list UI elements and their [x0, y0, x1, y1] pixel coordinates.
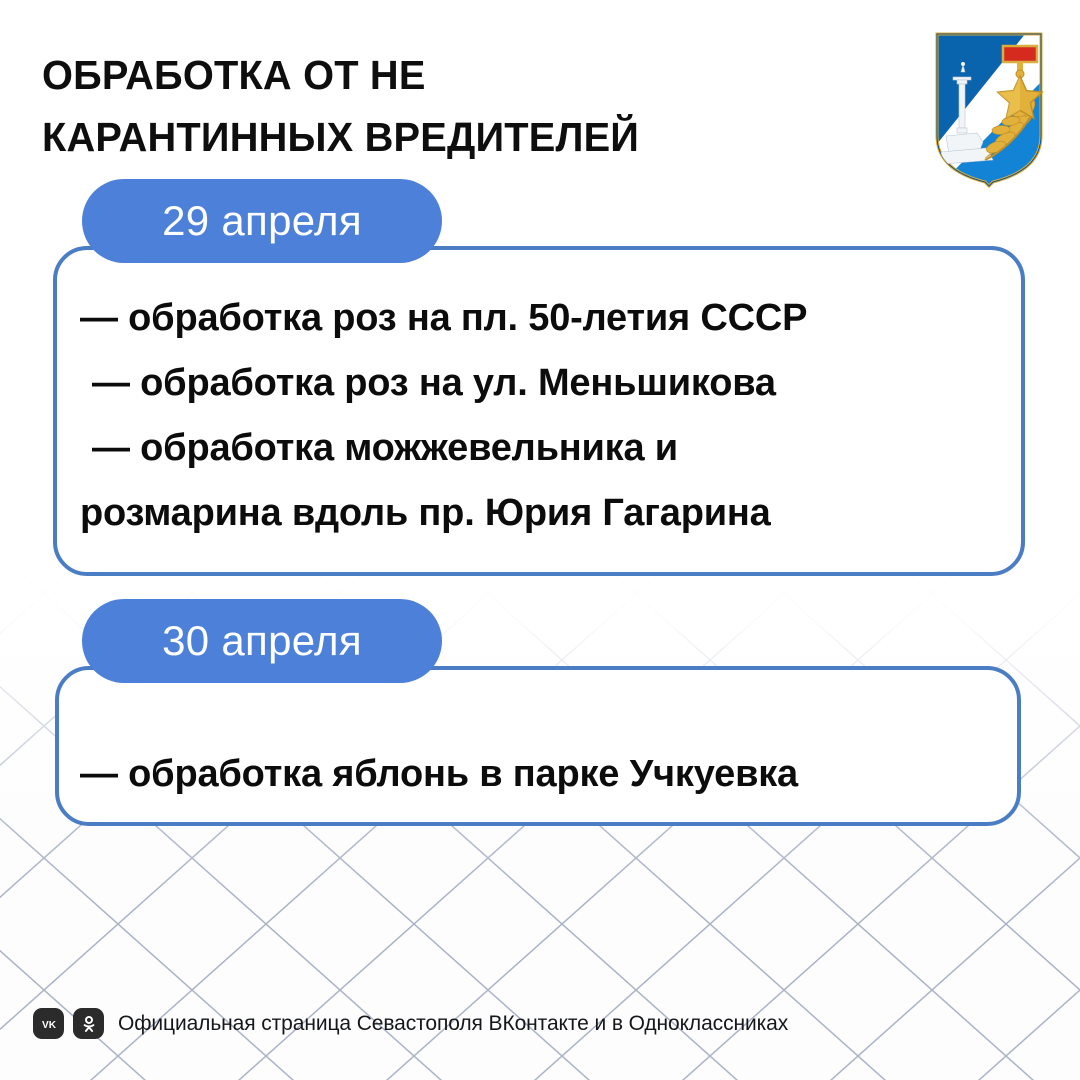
- footer-text: Официальная страница Севастополя ВКонтак…: [118, 1012, 788, 1036]
- card-body-section-2: — обработка яблонь в парке Учкуевка: [80, 742, 1010, 807]
- vk-icon[interactable]: VK: [33, 1008, 64, 1039]
- odnoklassniki-icon[interactable]: [73, 1008, 104, 1039]
- list-item: — обработка можжевельника и: [80, 416, 1010, 481]
- coat-of-arms-icon: [913, 24, 1065, 192]
- svg-text:VK: VK: [41, 1020, 56, 1031]
- card-body-section-1: — обработка роз на пл. 50-летия СССР — о…: [80, 286, 1010, 546]
- page-title: ОБРАБОТКА ОТ НЕ КАРАНТИННЫХ ВРЕДИТЕЛЕЙ: [42, 44, 721, 168]
- list-item: — обработка роз на пл. 50-летия СССР: [80, 286, 1010, 351]
- date-badge-30-april: 30 апреля: [82, 599, 442, 683]
- list-item-continued: розмарина вдоль пр. Юрия Гагарина: [80, 481, 1010, 546]
- title-line-1: ОБРАБОТКА ОТ НЕ: [42, 44, 721, 106]
- footer: VK Официальная страница Севастополя ВКон…: [33, 1008, 788, 1039]
- list-item: — обработка яблонь в парке Учкуевка: [80, 742, 1010, 807]
- title-line-2: КАРАНТИННЫХ ВРЕДИТЕЛЕЙ: [42, 106, 721, 168]
- list-item: — обработка роз на ул. Меньшикова: [80, 351, 1010, 416]
- date-badge-29-april: 29 апреля: [82, 179, 442, 263]
- poster-canvas: ОБРАБОТКА ОТ НЕ КАРАНТИННЫХ ВРЕДИТЕЛЕЙ: [0, 0, 1080, 1080]
